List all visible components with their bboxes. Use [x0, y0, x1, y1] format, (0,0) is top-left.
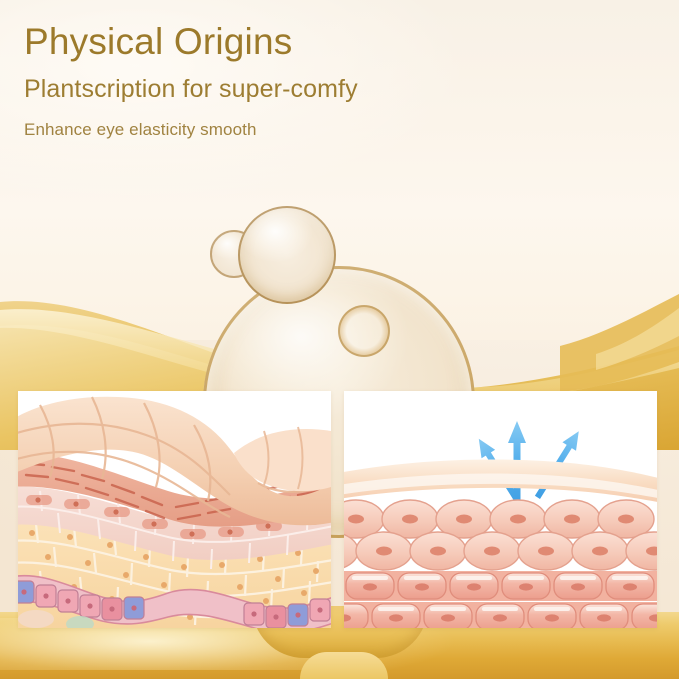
- oil-droplet: [300, 652, 388, 679]
- page-title: Physical Origins: [24, 18, 644, 66]
- skin-cross-section-panel[interactable]: [18, 391, 331, 628]
- medium-bubble: [238, 206, 336, 304]
- page-subtitle: Plantscription for super-comfy: [24, 70, 644, 108]
- page-tagline: Enhance eye elasticity smooth: [24, 116, 644, 144]
- skin-cell-layers-panel[interactable]: [344, 391, 657, 628]
- header-text-block: Physical Origins Plantscription for supe…: [24, 18, 644, 144]
- product-banner: Physical Origins Plantscription for supe…: [0, 0, 679, 679]
- inner-ring-bubble: [338, 305, 390, 357]
